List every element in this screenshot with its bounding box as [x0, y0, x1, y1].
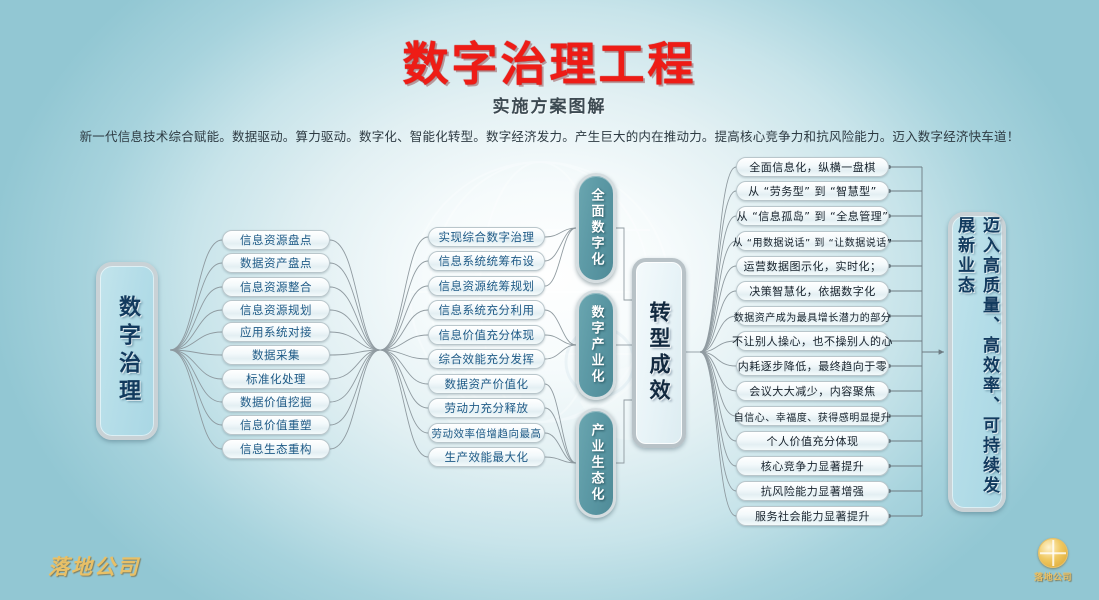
list-item[interactable]: 核心竞争力显著提升 [736, 456, 889, 476]
page-subtitle: 实施方案图解 [0, 92, 1099, 117]
stage-capsule-label: 数字产业化 [587, 305, 606, 385]
list-item[interactable]: 劳动效率倍增趋向最高 [428, 423, 545, 443]
list-item[interactable]: 信息系统统筹布设 [428, 251, 545, 271]
globe-logo-icon [1038, 538, 1068, 568]
infographic-canvas: R [0, 0, 1099, 600]
stage-capsule-label: 全面数字化 [587, 188, 606, 268]
transformation-effect-label: 转型成效 [644, 301, 674, 405]
list-item[interactable]: 自信心、幸福度、获得感明显提升 [736, 406, 889, 426]
stage-capsule-label: 产业生态化 [587, 423, 606, 503]
list-item[interactable]: 数据采集 [222, 345, 330, 365]
list-item[interactable]: 运营数据图示化，实时化； [736, 256, 889, 276]
root-node-digital-governance[interactable]: 数字治理 [96, 262, 158, 440]
transformation-effect-hub[interactable]: 转型成效 [632, 258, 686, 448]
final-outcome-node[interactable]: 迈入高质量、高效率、可持续发展新业态 [948, 212, 1006, 512]
list-item[interactable]: 从 “信息孤岛” 到 “全息管理” [736, 206, 889, 226]
brand-logo-label: 落地公司 [1034, 570, 1072, 583]
list-item[interactable]: 全面信息化，纵横一盘棋 [736, 157, 889, 177]
list-item[interactable]: 会议大大减少，内容聚焦 [736, 381, 889, 401]
list-item[interactable]: 信息资源规划 [222, 300, 330, 320]
list-item[interactable]: 信息资源统筹规划 [428, 276, 545, 296]
list-item[interactable]: 个人价值充分体现 [736, 431, 889, 451]
list-item[interactable]: 信息生态重构 [222, 439, 330, 459]
list-item[interactable]: 不让别人操心，也不操别人的心 [736, 331, 889, 351]
final-outcome-label: 迈入高质量、高效率、可持续发展新业态 [952, 216, 1002, 508]
list-item[interactable]: 生产效能最大化 [428, 447, 545, 467]
list-item[interactable]: 数据资产价值化 [428, 374, 545, 394]
list-item[interactable]: 从 “劳务型” 到 “智慧型” [736, 181, 889, 201]
page-lede-text: 新一代信息技术综合赋能。数据驱动。算力驱动。数字化、智能化转型。数字经济发力。产… [0, 126, 1099, 145]
list-item[interactable]: 标准化处理 [222, 369, 330, 389]
list-item[interactable]: 信息系统充分利用 [428, 300, 545, 320]
stage-capsule-comprehensive-digitalization[interactable]: 全面数字化 [576, 173, 616, 283]
list-item[interactable]: 数据资产成为最具增长潜力的部分 [736, 306, 889, 326]
list-item[interactable]: 从 “用数据说话” 到 “让数据说话” [736, 231, 889, 251]
brand-wordmark-left: 落地公司 [48, 551, 140, 581]
brand-logo-right: 落地公司 [1025, 538, 1081, 590]
list-item[interactable]: 抗风险能力显著增强 [736, 481, 889, 501]
list-item[interactable]: 信息价值重塑 [222, 415, 330, 435]
list-item[interactable]: 综合效能充分发挥 [428, 349, 545, 369]
list-item[interactable]: 决策智慧化，依据数字化 [736, 281, 889, 301]
list-item[interactable]: 信息价值充分体现 [428, 325, 545, 345]
stage-capsule-digital-industrialization[interactable]: 数字产业化 [576, 290, 616, 400]
list-item[interactable]: 内耗逐步降低，最终趋向于零 [736, 356, 889, 376]
list-item[interactable]: 数据价值挖掘 [222, 392, 330, 412]
list-item[interactable]: 服务社会能力显著提升 [736, 506, 889, 526]
list-item[interactable]: 数据资产盘点 [222, 253, 330, 273]
list-item[interactable]: 信息资源盘点 [222, 230, 330, 250]
stage-capsule-industrial-ecologization[interactable]: 产业生态化 [576, 408, 616, 518]
list-item[interactable]: 信息资源整合 [222, 277, 330, 297]
root-node-label: 数字治理 [111, 295, 143, 407]
list-item[interactable]: 实现综合数字治理 [428, 227, 545, 247]
list-item[interactable]: 劳动力充分释放 [428, 398, 545, 418]
list-item[interactable]: 应用系统对接 [222, 322, 330, 342]
page-title: 数字治理工程 [0, 28, 1099, 94]
